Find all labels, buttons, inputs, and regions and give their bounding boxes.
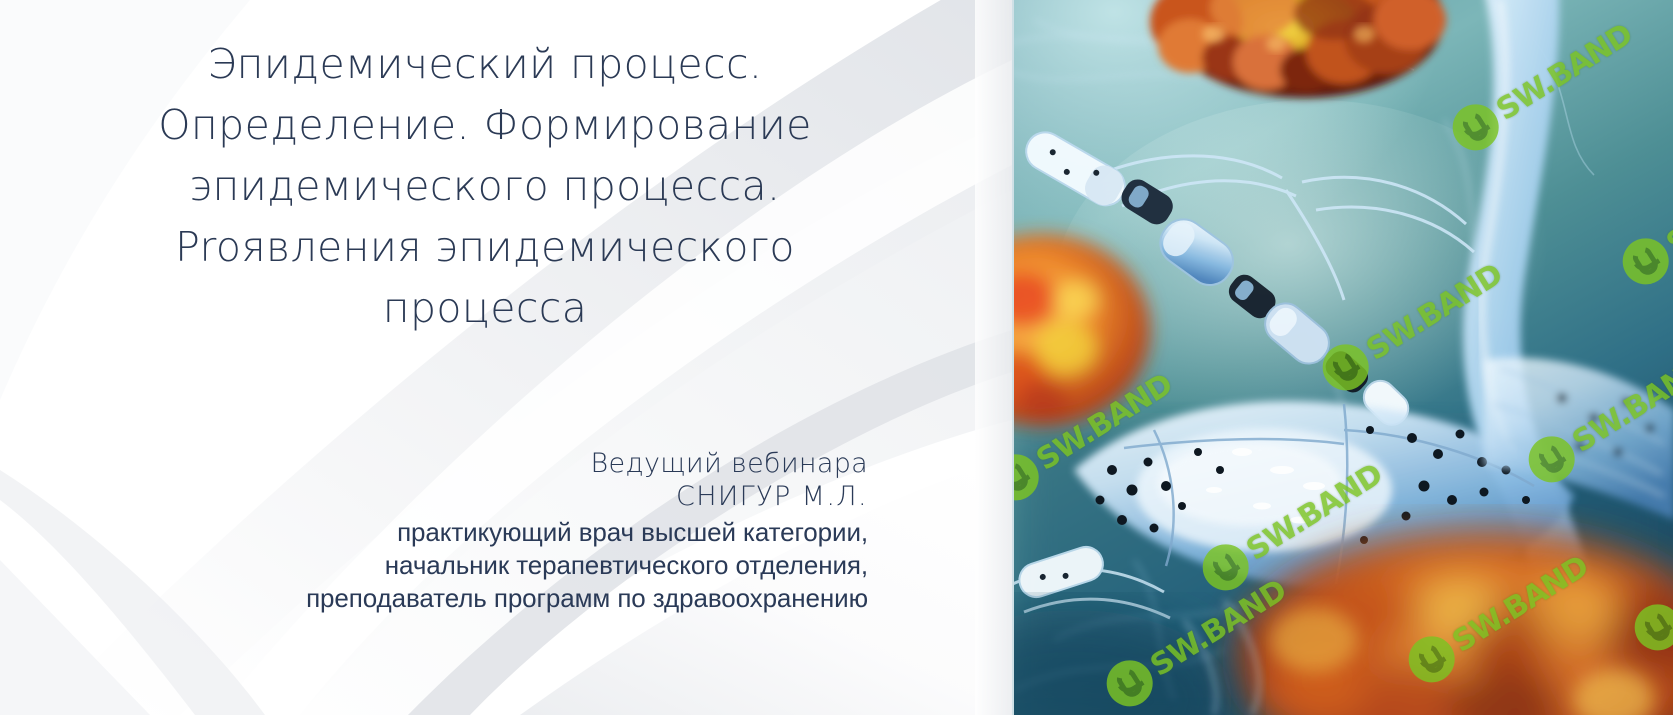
slide-title: Эпидемический процесс. Определение. Форм… [40,34,930,339]
slide-photo-panel: SW.BAND SW.BAND SW.BAND SW.BAND SW.BAND … [1012,0,1673,715]
presenter-role-line-3: преподаватель программ по здравоохранени… [140,582,868,615]
slide-left-panel: Эпидемический процесс. Определение. Форм… [0,0,1012,715]
slide-text-container: Эпидемический процесс. Определение. Форм… [0,0,1012,715]
microbiology-illustration [1014,0,1673,715]
presenter-role-line-2: начальник терапевтического отделения, [140,549,868,582]
presenter-role-line-1: практикующий врач высшей категории, [140,516,868,549]
presenter-lead-label: Ведущий вебинара [140,447,868,480]
presenter-name: СНИГУР М.Л. [140,480,868,513]
presenter-block: Ведущий вебинара СНИГУР М.Л. практикующи… [140,447,868,615]
presentation-slide: Эпидемический процесс. Определение. Форм… [0,0,1673,715]
presenter-role-list: практикующий врач высшей категории, нача… [140,516,868,615]
